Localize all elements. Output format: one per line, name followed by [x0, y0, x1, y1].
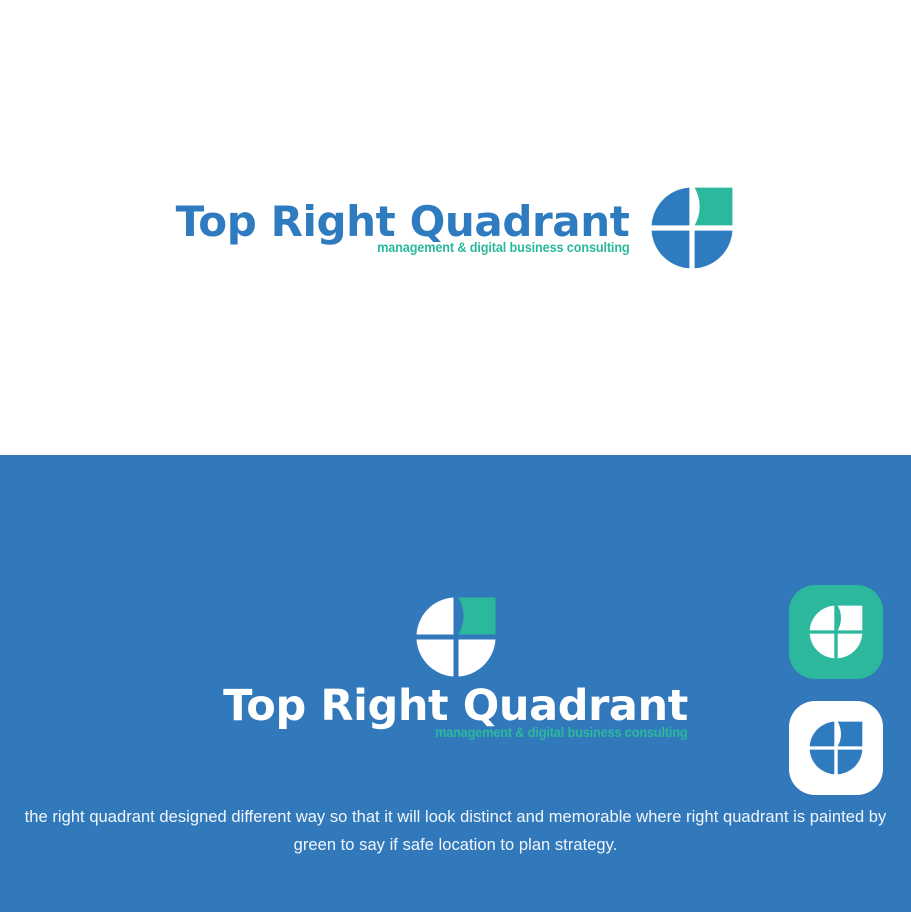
- quadrant-bottom-right: [458, 640, 495, 677]
- quadrant-top-right-accent: [838, 722, 863, 747]
- brand-tagline-reverse: management & digital business consulting: [435, 726, 687, 740]
- wordmark-stack-reverse: Top Right Quadrant management & digital …: [223, 685, 688, 739]
- quadrant-top-left: [652, 187, 690, 225]
- quadrant-logo-mark-reverse: [414, 595, 498, 679]
- primary-logo-lockup: Top Right Quadrant management & digital …: [0, 0, 911, 455]
- wordmark-stack: Top Right Quadrant management & digital …: [176, 201, 630, 254]
- quadrant-bottom-right: [838, 634, 863, 659]
- quadrant-bottom-right: [838, 750, 863, 775]
- quadrant-bottom-left: [810, 750, 835, 775]
- logo-presentation-board: Top Right Quadrant management & digital …: [0, 0, 911, 912]
- primary-mark-wrap: [649, 185, 735, 271]
- reverse-mark-wrap: [414, 595, 498, 679]
- blue-panel: Top Right Quadrant management & digital …: [0, 455, 911, 912]
- quadrant-top-right-accent: [458, 598, 495, 635]
- brand-wordmark-reverse: Top Right Quadrant: [223, 685, 688, 729]
- app-icon-previews: [789, 585, 883, 795]
- quadrant-logo-mark-on-green: [808, 604, 864, 660]
- quadrant-top-left: [416, 598, 453, 635]
- brand-wordmark: Top Right Quadrant: [176, 201, 630, 244]
- logo-description-text: the right quadrant designed different wa…: [14, 803, 898, 859]
- quadrant-logo-mark-on-white: [808, 720, 864, 776]
- quadrant-logo-mark: [649, 185, 735, 271]
- quadrant-top-right-accent: [695, 187, 733, 225]
- quadrant-bottom-left: [416, 640, 453, 677]
- app-icon-green[interactable]: [789, 585, 883, 679]
- quadrant-top-left: [810, 722, 835, 747]
- quadrant-top-right-accent: [838, 606, 863, 631]
- quadrant-bottom-right: [695, 230, 733, 268]
- quadrant-top-left: [810, 606, 835, 631]
- quadrant-bottom-left: [810, 634, 835, 659]
- light-panel: Top Right Quadrant management & digital …: [0, 0, 911, 455]
- reverse-logo-lockup: Top Right Quadrant management & digital …: [0, 595, 911, 739]
- quadrant-bottom-left: [652, 230, 690, 268]
- app-icon-white[interactable]: [789, 701, 883, 795]
- brand-tagline: management & digital business consulting: [377, 241, 629, 255]
